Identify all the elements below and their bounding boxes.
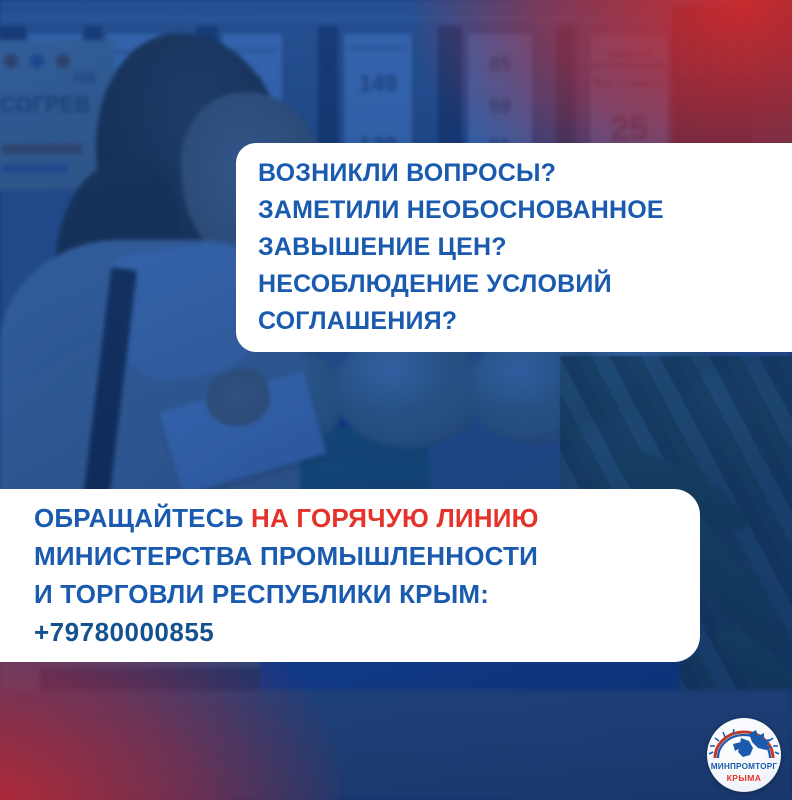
logo-line-2: КРЫМА: [707, 773, 781, 783]
question-line-3: ЗАВЫШЕНИЕ ЦЕН?: [258, 229, 507, 266]
hotline-card: ОБРАЩАЙТЕСЬ НА ГОРЯЧУЮ ЛИНИЮ МИНИСТЕРСТВ…: [0, 489, 700, 662]
question-line-2: ЗАМЕТИЛИ НЕОБОСНОВАННОЕ: [258, 192, 664, 229]
poster-root: 129 149 37 27 149 129 85 59 55: [0, 0, 792, 800]
hotline-prefix: ОБРАЩАЙТЕСЬ: [34, 503, 251, 533]
hotline-line-3: И ТОРГОВЛИ РЕСПУБЛИКИ КРЫМ:: [34, 575, 489, 613]
hotline-line-2: МИНИСТЕРСТВА ПРОМЫШЛЕННОСТИ: [34, 537, 538, 575]
background-photo: 129 149 37 27 149 129 85 59 55: [0, 0, 792, 800]
hotline-accent: НА ГОРЯЧУЮ ЛИНИЮ: [251, 503, 539, 533]
minpromtorg-logo[interactable]: МИНПРОМТОРГ КРЫМА: [707, 718, 781, 792]
griffin-emblem: [707, 724, 781, 762]
question-line-5: СОГЛАШЕНИЯ?: [258, 303, 457, 340]
hotline-line-1: ОБРАЩАЙТЕСЬ НА ГОРЯЧУЮ ЛИНИЮ: [34, 499, 539, 537]
hotline-phone-number[interactable]: +79780000855: [34, 613, 214, 651]
logo-line-1: МИНПРОМТОРГ: [707, 762, 781, 771]
question-line-1: ВОЗНИКЛИ ВОПРОСЫ?: [258, 155, 556, 192]
question-line-4: НЕСОБЛЮДЕНИЕ УСЛОВИЙ: [258, 266, 612, 303]
question-card: ВОЗНИКЛИ ВОПРОСЫ? ЗАМЕТИЛИ НЕОБОСНОВАННО…: [236, 143, 792, 352]
